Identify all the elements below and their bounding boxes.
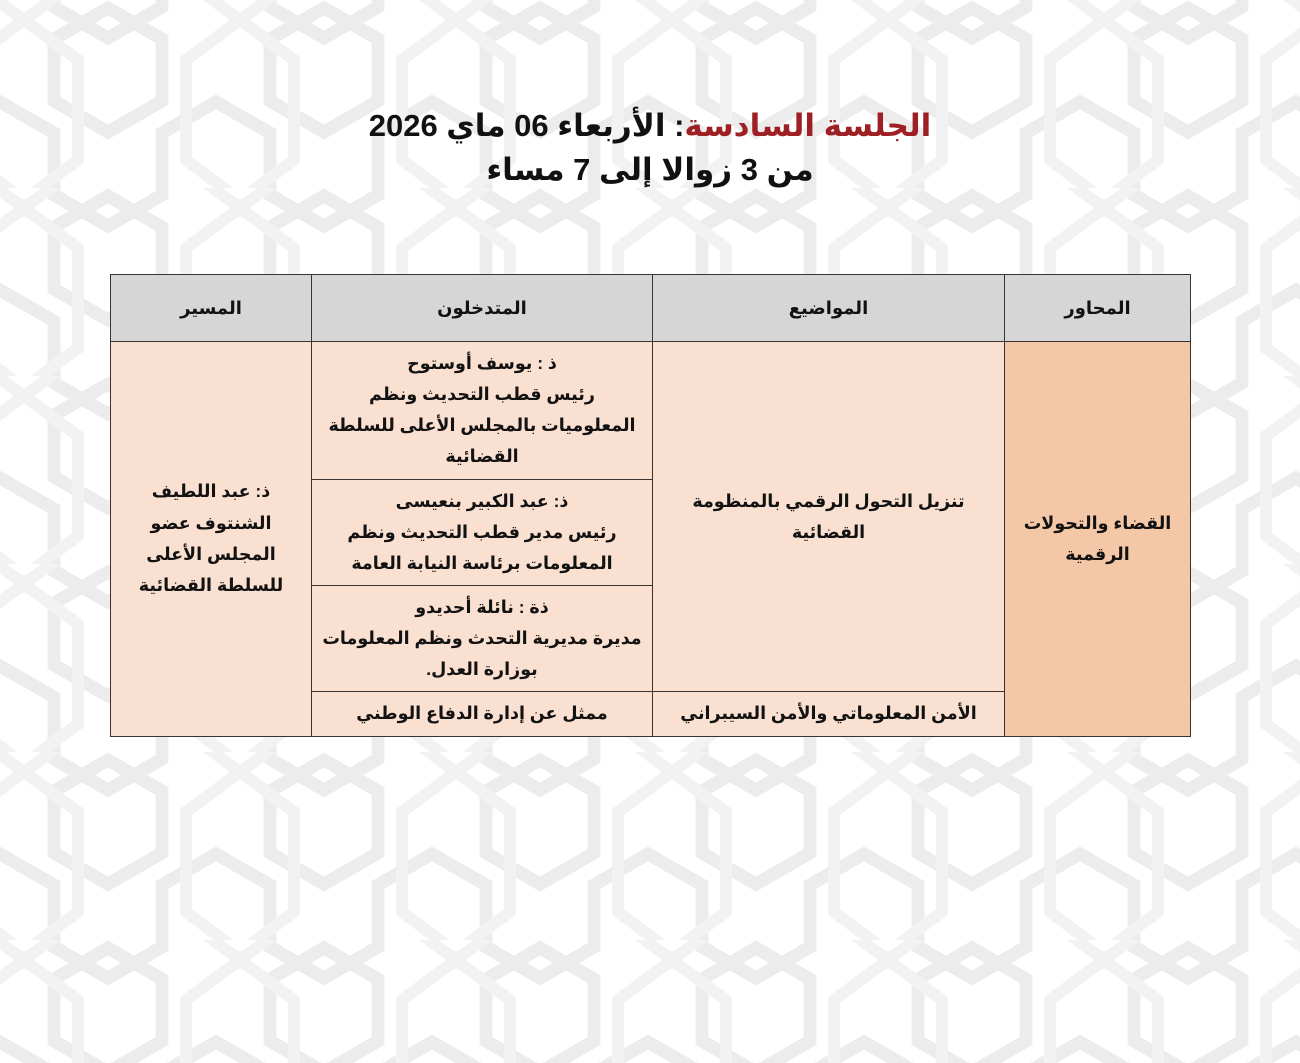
speaker-cell-one: ذ : يوسف أوستوح رئيس قطب التحديث ونظم ال… (312, 342, 653, 480)
session-schedule-table: المحاور المواضيع المتدخلون المسير القضاء… (110, 274, 1191, 737)
moderator-cell: ذ: عبد اللطيف الشنتوف عضو المجلس الأعلى … (111, 342, 312, 737)
page-title: الجلسة السادسة: الأربعاء 06 ماي 2026 من … (0, 104, 1300, 192)
title-line-2: من 3 زوالا إلى 7 مساء (0, 148, 1300, 192)
speaker-role: رئيس مدير قطب التحديث ونظم المعلومات برئ… (322, 517, 642, 579)
column-header-topics: المواضيع (653, 275, 1005, 342)
table-row: القضاء والتحولات الرقمية تنزيل التحول ال… (111, 342, 1191, 480)
table-header-row: المحاور المواضيع المتدخلون المسير (111, 275, 1191, 342)
topic-cell-second: الأمن المعلوماتي والأمن السيبراني (653, 692, 1005, 736)
speaker-role: رئيس قطب التحديث ونظم المعلوميات بالمجلس… (322, 379, 642, 472)
title-date: : الأربعاء 06 ماي 2026 (369, 108, 685, 143)
speaker-name: ذ: عبد الكبير بنعيسى (322, 486, 642, 517)
column-header-speakers: المتدخلون (312, 275, 653, 342)
title-line-1: الجلسة السادسة: الأربعاء 06 ماي 2026 (0, 104, 1300, 148)
speaker-cell-three: ذة : نائلة أحديدو مديرة مديرية التحدث ون… (312, 585, 653, 691)
page-canvas: الجلسة السادسة: الأربعاء 06 ماي 2026 من … (0, 0, 1300, 1063)
topic-cell-first: تنزيل التحول الرقمي بالمنظومة القضائية (653, 342, 1005, 692)
speaker-name: ذة : نائلة أحديدو (322, 592, 642, 623)
title-session-label: الجلسة السادسة (684, 108, 931, 143)
speaker-cell-four: ممثل عن إدارة الدفاع الوطني (312, 692, 653, 736)
speaker-role: مديرة مديرية التحدث ونظم المعلومات بوزار… (322, 623, 642, 685)
speaker-name: ذ : يوسف أوستوح (322, 348, 642, 379)
speaker-cell-two: ذ: عبد الكبير بنعيسى رئيس مدير قطب التحد… (312, 479, 653, 585)
axis-cell: القضاء والتحولات الرقمية (1005, 342, 1191, 737)
speaker-name: ممثل عن إدارة الدفاع الوطني (322, 698, 642, 729)
column-header-moderator: المسير (111, 275, 312, 342)
column-header-axis: المحاور (1005, 275, 1191, 342)
